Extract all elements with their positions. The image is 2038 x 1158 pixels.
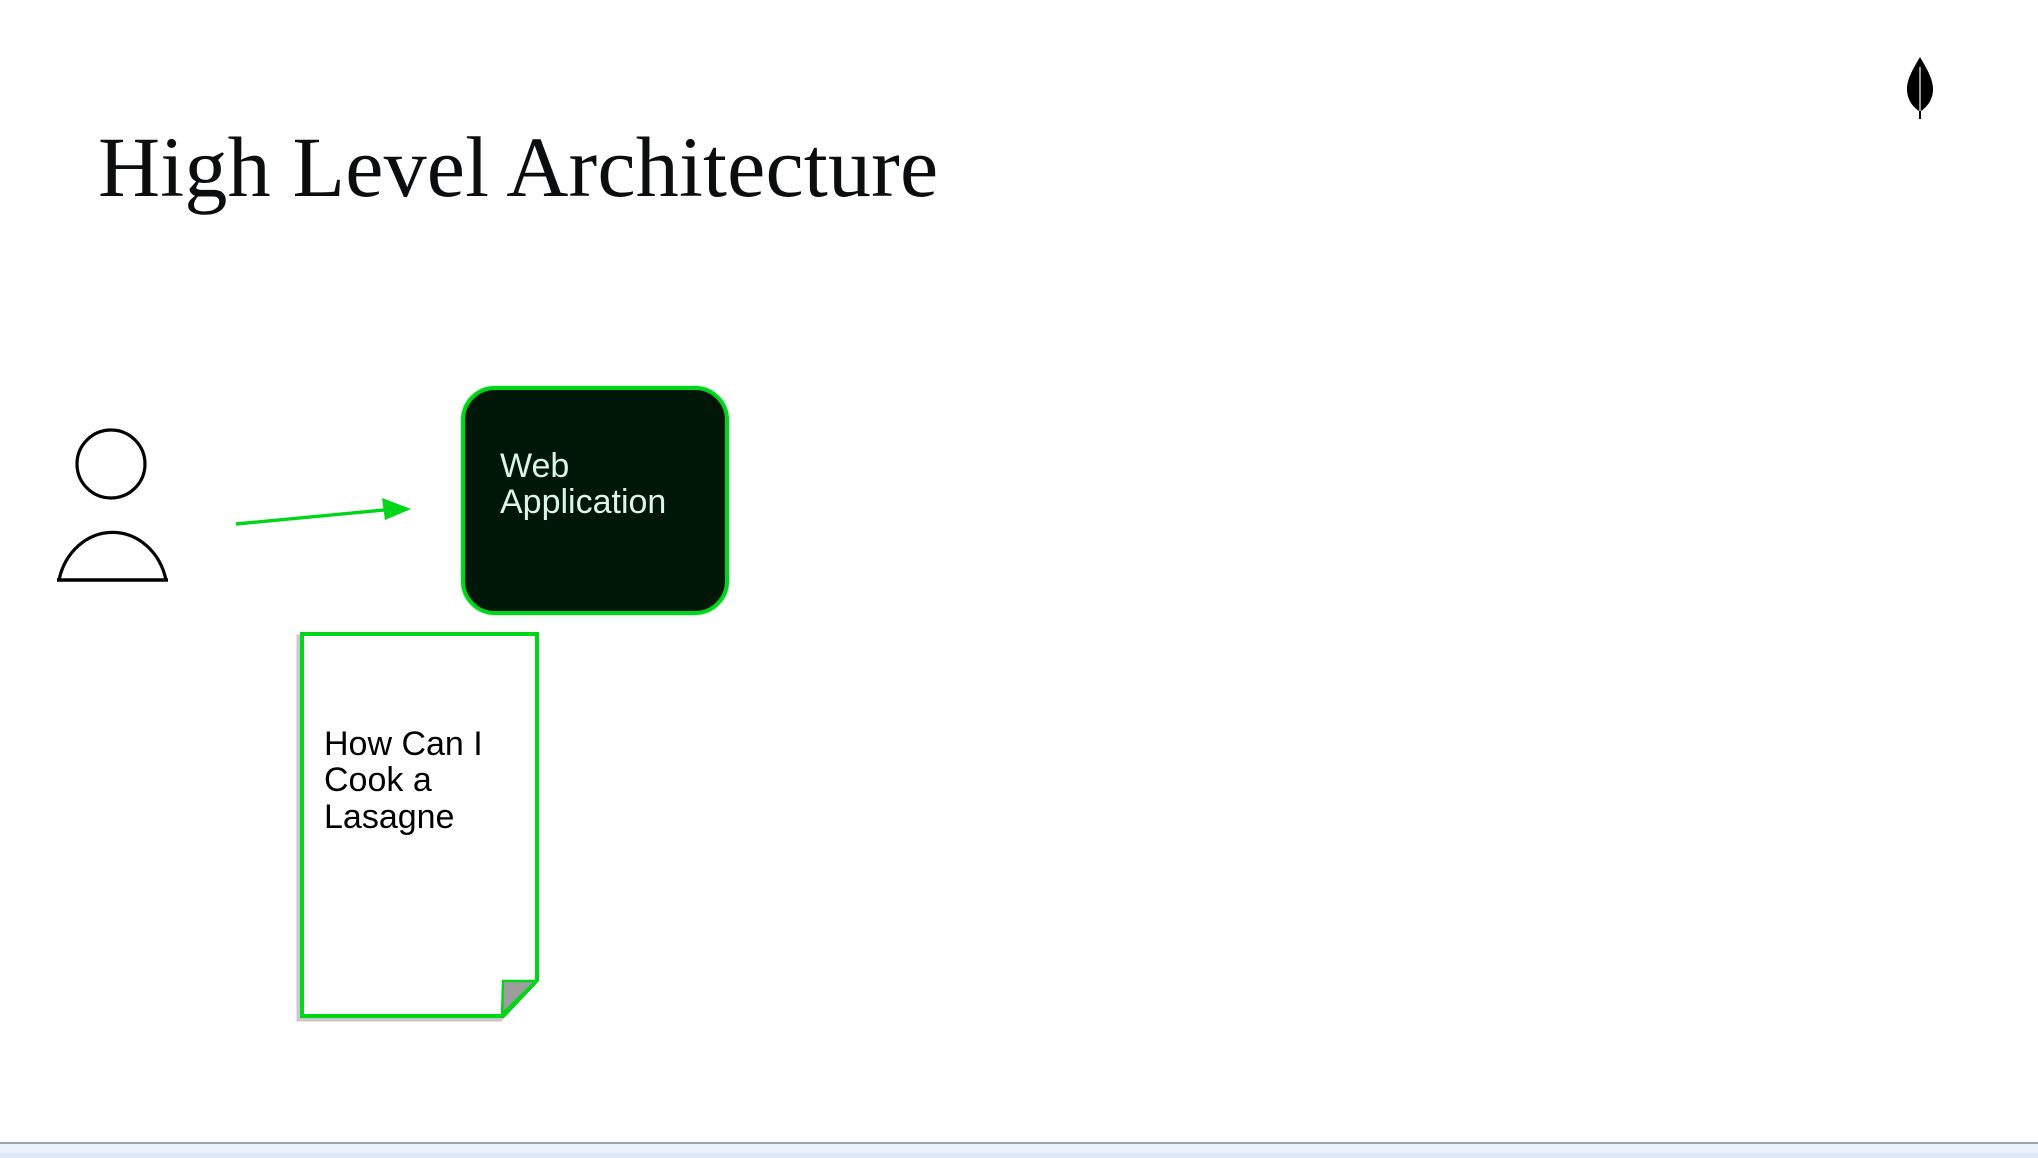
mongodb-leaf-icon xyxy=(1900,55,1940,121)
bottom-status-bar-fill xyxy=(0,1153,2038,1158)
bottom-status-bar xyxy=(0,1142,2038,1158)
user-person-icon xyxy=(56,420,226,600)
presentation-slide: High Level Architecture Web Application xyxy=(0,0,2038,1158)
page-title: High Level Architecture xyxy=(98,122,1598,212)
arrow-right-icon xyxy=(225,480,435,550)
web-application-label: Web Application xyxy=(500,448,710,521)
web-application-node[interactable]: Web Application xyxy=(461,386,729,615)
document-note-icon[interactable]: How Can I Cook a Lasagne xyxy=(298,630,541,1020)
note-text: How Can I Cook a Lasagne xyxy=(324,726,524,835)
